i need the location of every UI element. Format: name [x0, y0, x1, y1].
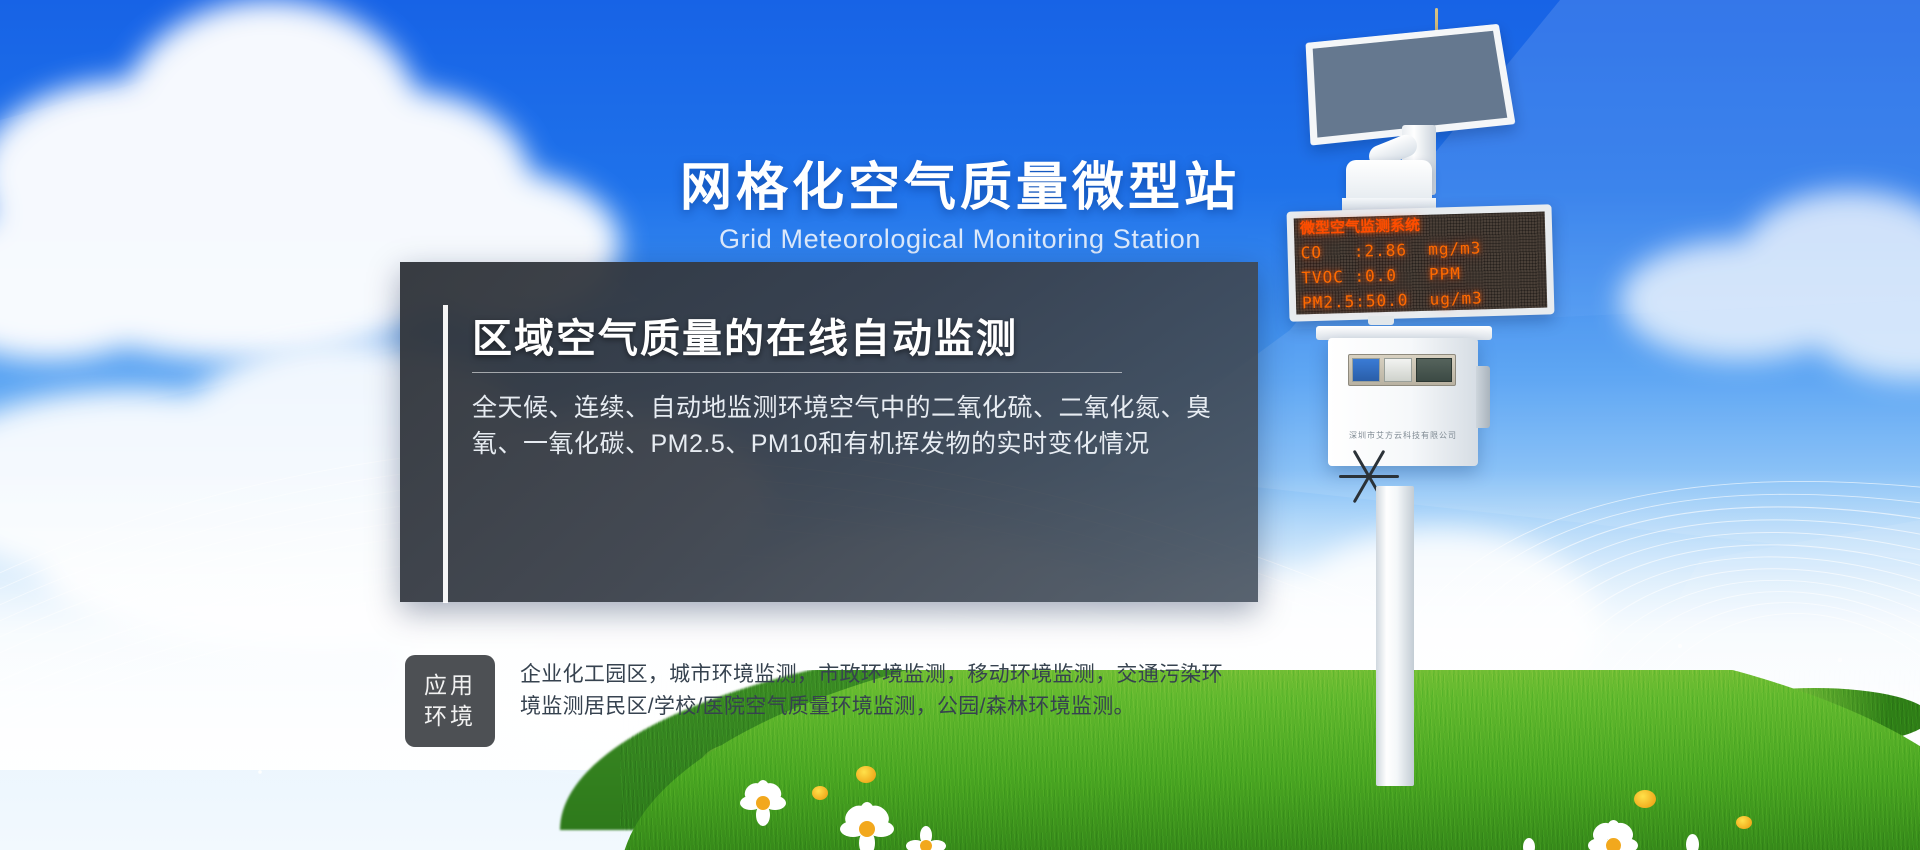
daisy-flower [740, 780, 786, 826]
application-description: 企业化工园区，城市环境监测，市政环境监测，移动环境监测，交通污染环境监测居民区/… [520, 655, 1240, 723]
yellow-flower [812, 786, 828, 800]
page-title: 网格化空气质量微型站 [0, 145, 1920, 220]
led-title-line: 微型空气监测系统 [1300, 215, 1539, 237]
daisy-flower [1670, 834, 1714, 850]
application-badge-line2: 环境 [424, 701, 476, 732]
application-environment-row: 应用 环境 企业化工园区，城市环境监测，市政环境监测，移动环境监测，交通污染环境… [405, 655, 1240, 747]
station-pole [1376, 486, 1414, 786]
page-subtitle: Grid Meteorological Monitoring Station [0, 224, 1920, 255]
panel-body-text: 全天候、连续、自动地监测环境空气中的二氧化硫、二氧化氮、臭氧、一氧化碳、PM2.… [472, 390, 1212, 463]
cabinet-intake-assembly [1336, 462, 1402, 488]
info-panel: 区域空气质量的在线自动监测 全天候、连续、自动地监测环境空气中的二氧化硫、二氧化… [400, 262, 1258, 602]
led-display-board: 微型空气监测系统 CO :2.86 mg/m3 TVOC :0.0 PPM PM… [1287, 204, 1555, 321]
led-line-pm25: PM2.5:50.0 ug/m3 [1302, 289, 1541, 312]
yellow-flower [1634, 790, 1656, 808]
equipment-cabinet: 深圳市艾方云科技有限公司 [1328, 338, 1478, 466]
cabinet-side-vent [1476, 366, 1490, 428]
cabinet-meter-display [1416, 358, 1452, 382]
cabinet-control-panel [1348, 354, 1456, 386]
led-board-mount [1368, 316, 1394, 325]
daisy-flower [840, 802, 894, 850]
accent-bar [443, 305, 448, 603]
led-screen: 微型空气监测系统 CO :2.86 mg/m3 TVOC :0.0 PPM PM… [1294, 212, 1548, 315]
panel-heading: 区域空气质量的在线自动监测 [472, 306, 1018, 364]
application-badge: 应用 环境 [405, 655, 495, 747]
breaker-switch-icon [1384, 358, 1412, 382]
daisy-flower [906, 826, 946, 850]
breaker-switch-icon [1352, 358, 1380, 382]
cabinet-company-label: 深圳市艾方云科技有限公司 [1328, 430, 1478, 441]
application-badge-line1: 应用 [424, 670, 476, 701]
yellow-flower [856, 766, 876, 783]
led-line-co: CO :2.86 mg/m3 [1300, 239, 1539, 262]
led-line-tvoc: TVOC :0.0 PPM [1301, 264, 1540, 287]
air-quality-banner: 网格化空气质量微型站 Grid Meteorological Monitorin… [0, 0, 1920, 850]
monitoring-station-device: 微型空气监测系统 CO :2.86 mg/m3 TVOC :0.0 PPM PM… [1250, 0, 1610, 850]
yellow-flower [1736, 816, 1752, 829]
panel-divider [472, 372, 1122, 373]
solar-cells-texture [1313, 31, 1508, 138]
